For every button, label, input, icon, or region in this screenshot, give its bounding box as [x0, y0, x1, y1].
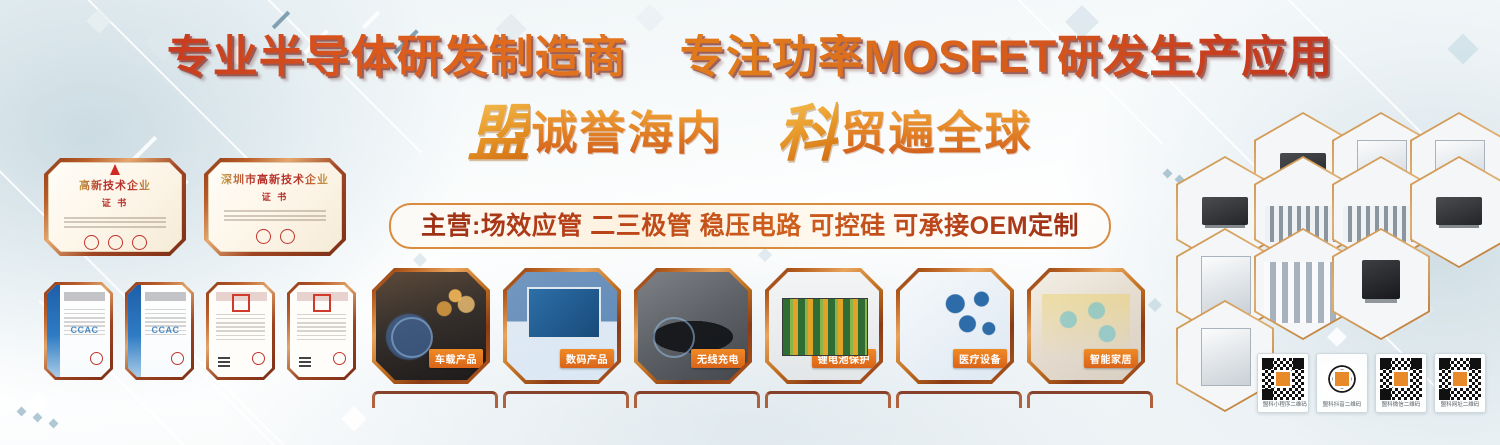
certificate-header-bar	[64, 292, 105, 301]
certificate-face: 高新技术企业证 书	[48, 162, 182, 252]
certificate-stamp-icon	[171, 352, 184, 365]
qrcode-group: 盟科小程序二维码盟科抖音二维码盟科微信二维码盟科网址二维码	[1257, 353, 1486, 413]
certificate-detail-lines	[64, 214, 167, 230]
headline-right: 专注功率MOSFET研发生产应用	[680, 31, 1334, 82]
application-photo: 车载产品	[376, 272, 486, 380]
certificate-seals	[84, 235, 147, 250]
application-label-badge: 锂电池保护	[812, 349, 877, 368]
qr-douyin[interactable]: 盟科抖音二维码	[1316, 353, 1368, 413]
qr-caption: 盟科微信二维码	[1381, 403, 1421, 409]
certificate-subtitle: 证 书	[102, 196, 129, 209]
bottom-frame-segment	[372, 391, 498, 408]
certificate-group-portrait: CCACCCAC	[44, 282, 356, 380]
product-scope-pill: 主营:场效应管 二三极管 稳压电路 可控硅 可承接OEM定制	[389, 203, 1111, 249]
qr-caption: 盟科小程序二维码	[1263, 403, 1303, 409]
application-photo: 无线充电	[638, 272, 748, 380]
certificate-qr-icon	[218, 355, 230, 367]
certificate-stamp-icon	[252, 352, 265, 365]
qr-caption: 盟科抖音二维码	[1322, 403, 1362, 409]
slogan-second-rest: 贸遍全球	[840, 107, 1032, 159]
slogan-first-char: 盟	[468, 97, 530, 170]
certification-mark: CCAC	[64, 325, 105, 335]
qr-center-logo-icon	[1392, 370, 1410, 388]
app-digital[interactable]: 数码产品	[503, 268, 621, 384]
product-scope-text: 主营:场效应管 二三极管 稳压电路 可控硅 可承接OEM定制	[421, 212, 1079, 240]
qr-center-logo-icon	[1333, 370, 1351, 388]
flame-icon	[110, 164, 120, 175]
certificate-portrait-1[interactable]: CCAC	[44, 282, 113, 380]
application-label-badge: 智能家居	[1084, 349, 1138, 368]
qr-website[interactable]: 盟科网址二维码	[1434, 353, 1486, 413]
app-battery-protection[interactable]: 锂电池保护	[765, 268, 883, 384]
certificate-group-landscape: 高新技术企业证 书深圳市高新技术企业证 书	[44, 158, 346, 256]
company-showcase-hexgrid	[1162, 118, 1492, 378]
certificate-face: CCAC	[128, 285, 191, 377]
cert-high-tech-enterprise[interactable]: 高新技术企业证 书	[44, 158, 186, 256]
promo-banner: 专业半导体研发制造商 专注功率MOSFET研发生产应用 盟诚誉海内 科贸遍全球 …	[0, 0, 1500, 445]
certificate-face: CCAC	[47, 285, 110, 377]
qr-code-image	[1380, 358, 1422, 400]
headline-left: 专业半导体研发制造商	[167, 31, 627, 82]
certificate-portrait-3[interactable]	[206, 282, 275, 380]
certificate-stamp-icon	[333, 352, 346, 365]
decor-dash-mark	[362, 11, 380, 29]
app-medical-device[interactable]: 医疗设备	[896, 268, 1014, 384]
app-automotive[interactable]: 车载产品	[372, 268, 490, 384]
qr-code-image	[1321, 358, 1363, 400]
app-smart-home[interactable]: 智能家居	[1027, 268, 1145, 384]
certificate-text-lines	[297, 311, 346, 343]
application-label-badge: 医疗设备	[953, 349, 1007, 368]
bottom-frame-segment	[765, 391, 891, 408]
qr-code-image	[1262, 358, 1304, 400]
qr-miniprogram[interactable]: 盟科小程序二维码	[1257, 353, 1309, 413]
certificate-header-bar	[145, 292, 186, 301]
decor-dot	[17, 407, 27, 417]
decor-diamond	[636, 4, 664, 32]
certificate-face: 深圳市高新技术企业证 书	[208, 162, 342, 252]
certificate-face	[290, 285, 353, 377]
qr-code-image	[1439, 358, 1481, 400]
bottom-frame-segment	[634, 391, 760, 408]
decor-dot	[33, 413, 43, 423]
certificate-portrait-4[interactable]	[287, 282, 356, 380]
certificate-portrait-2[interactable]: CCAC	[125, 282, 194, 380]
decor-diamond	[341, 406, 366, 431]
qr-caption: 盟科网址二维码	[1440, 403, 1480, 409]
decor-dot	[49, 419, 59, 429]
certificate-emblem-icon	[232, 294, 250, 312]
application-photo: 锂电池保护	[769, 272, 879, 380]
bottom-frame-segment	[503, 391, 629, 408]
slogan-first-rest: 诚誉海内	[532, 107, 724, 159]
application-label-badge: 无线充电	[691, 349, 745, 368]
application-card-group: 车载产品数码产品无线充电锂电池保护医疗设备智能家居	[372, 268, 1145, 384]
qr-center-logo-icon	[1451, 370, 1469, 388]
certification-mark: CCAC	[145, 325, 186, 335]
certificate-title: 深圳市高新技术企业	[221, 171, 329, 187]
application-photo: 医疗设备	[900, 272, 1010, 380]
certificate-title: 高新技术企业	[79, 177, 151, 193]
application-label-badge: 数码产品	[560, 349, 614, 368]
certificate-detail-lines	[224, 208, 327, 224]
certificate-emblem-icon	[313, 294, 331, 312]
certificate-qr-icon	[299, 355, 311, 367]
bottom-frame-segment	[896, 391, 1022, 408]
cert-shenzhen-high-tech-enterprise[interactable]: 深圳市高新技术企业证 书	[204, 158, 346, 256]
decor-diamond	[413, 253, 427, 267]
decor-diamond	[86, 8, 111, 33]
bottom-frame-segment	[1027, 391, 1153, 408]
decor-diamond	[27, 392, 50, 415]
application-photo: 数码产品	[507, 272, 617, 380]
certificate-text-lines	[216, 311, 265, 343]
qr-wechat[interactable]: 盟科微信二维码	[1375, 353, 1427, 413]
app-wireless-charging[interactable]: 无线充电	[634, 268, 752, 384]
slogan-second-char: 科	[776, 97, 838, 170]
certificate-stamp-icon	[90, 352, 103, 365]
application-label-badge: 车载产品	[429, 349, 483, 368]
qr-center-logo-icon	[1274, 370, 1292, 388]
certificate-subtitle: 证 书	[262, 190, 289, 203]
decor-dash-mark	[272, 11, 290, 29]
certificate-seals	[256, 229, 295, 244]
certificate-face	[209, 285, 272, 377]
banner-headline: 专业半导体研发制造商 专注功率MOSFET研发生产应用	[0, 34, 1500, 79]
application-photo: 智能家居	[1031, 272, 1141, 380]
decor-diamond	[1148, 298, 1162, 312]
